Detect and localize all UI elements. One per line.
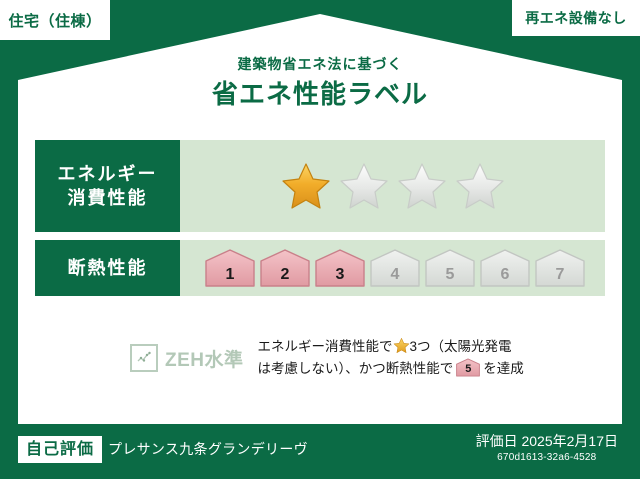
insulation-badge-6-value: 6 — [479, 267, 531, 283]
star-icon-inline — [393, 337, 410, 354]
insulation-badge-5: 5 — [424, 248, 476, 288]
zeh-standard-description: エネルギー消費性能で3つ（太陽光発電は考慮しない）、かつ断熱性能で5を達成 — [258, 336, 580, 381]
zeh-standard-mark: ZEH水準 — [130, 344, 244, 372]
building-type-tag: 住宅（住棟） — [0, 0, 110, 40]
insulation-performance-label-box: 断熱性能 — [35, 240, 180, 296]
energy-performance-label-line2: 消費性能 — [68, 186, 148, 210]
insulation-badge-3-value: 3 — [314, 267, 366, 283]
building-name: プレサンス九条グランデリーヴ — [108, 439, 308, 459]
energy-performance-label-box: エネルギー 消費性能 — [35, 140, 180, 232]
insulation-badge-5-value: 5 — [424, 267, 476, 283]
star-icon-1-filled — [280, 161, 332, 211]
renewable-energy-tag: 再エネ設備なし — [512, 0, 640, 36]
energy-performance-label-line1: エネルギー — [58, 162, 158, 186]
insulation-level-scale: 1 2 — [204, 248, 586, 288]
insulation-performance-label: 断熱性能 — [68, 256, 148, 280]
footer-left: 自己評価 プレサンス九条グランデリーヴ — [18, 436, 308, 463]
zeh-desc-line2-prefix: は考慮しない）、かつ断熱性能で — [258, 361, 454, 376]
star-icon-2-empty — [338, 161, 390, 211]
self-evaluation-badge: 自己評価 — [18, 436, 102, 463]
insulation-performance-panel: 1 2 — [180, 240, 605, 296]
energy-performance-row: エネルギー 消費性能 — [35, 140, 605, 232]
insulation-badge-1: 1 — [204, 248, 256, 288]
zeh-house-icon — [130, 344, 158, 372]
energy-performance-label: 住宅（住棟） 再エネ設備なし 建築物省エネ法に基づく 省エネ性能ラベル エネルギ… — [0, 0, 640, 479]
insulation-badge-inline-value: 5 — [455, 364, 481, 375]
building-type-tag-label: 住宅（住棟） — [8, 10, 101, 31]
star-icon-3-empty — [396, 161, 448, 211]
energy-performance-panel — [180, 140, 605, 232]
zeh-desc-line1-suffix: 3つ（太陽光発電 — [410, 339, 512, 354]
zeh-desc-line2-suffix: を達成 — [483, 361, 524, 376]
insulation-badge-4-value: 4 — [369, 267, 421, 283]
star-icon-4-empty — [454, 161, 506, 211]
evaluation-id: 670d1613-32a6-4528 — [476, 450, 618, 465]
insulation-badge-inline: 5 — [455, 358, 481, 377]
renewable-energy-tag-label: 再エネ設備なし — [525, 8, 627, 28]
page-title: 省エネ性能ラベル — [0, 79, 640, 110]
evaluation-date: 評価日 2025年2月17日 — [476, 432, 618, 450]
zeh-standard-label: ZEH水準 — [165, 345, 244, 372]
label-title-block: 建築物省エネ法に基づく 省エネ性能ラベル — [0, 56, 640, 110]
insulation-badge-7-value: 7 — [534, 267, 586, 283]
insulation-badge-4: 4 — [369, 248, 421, 288]
insulation-badge-3: 3 — [314, 248, 366, 288]
star-rating — [280, 161, 506, 211]
footer-right: 評価日 2025年2月17日 670d1613-32a6-4528 — [476, 432, 618, 465]
insulation-performance-row: 断熱性能 1 — [35, 240, 605, 296]
insulation-badge-2-value: 2 — [259, 267, 311, 283]
insulation-badge-2: 2 — [259, 248, 311, 288]
insulation-badge-1-value: 1 — [204, 267, 256, 283]
insulation-badge-6: 6 — [479, 248, 531, 288]
zeh-standard-row: ZEH水準 エネルギー消費性能で3つ（太陽光発電は考慮しない）、かつ断熱性能で5… — [130, 336, 580, 381]
zeh-desc-line1-prefix: エネルギー消費性能で — [258, 339, 393, 354]
label-subtitle: 建築物省エネ法に基づく — [0, 56, 640, 73]
insulation-badge-7: 7 — [534, 248, 586, 288]
